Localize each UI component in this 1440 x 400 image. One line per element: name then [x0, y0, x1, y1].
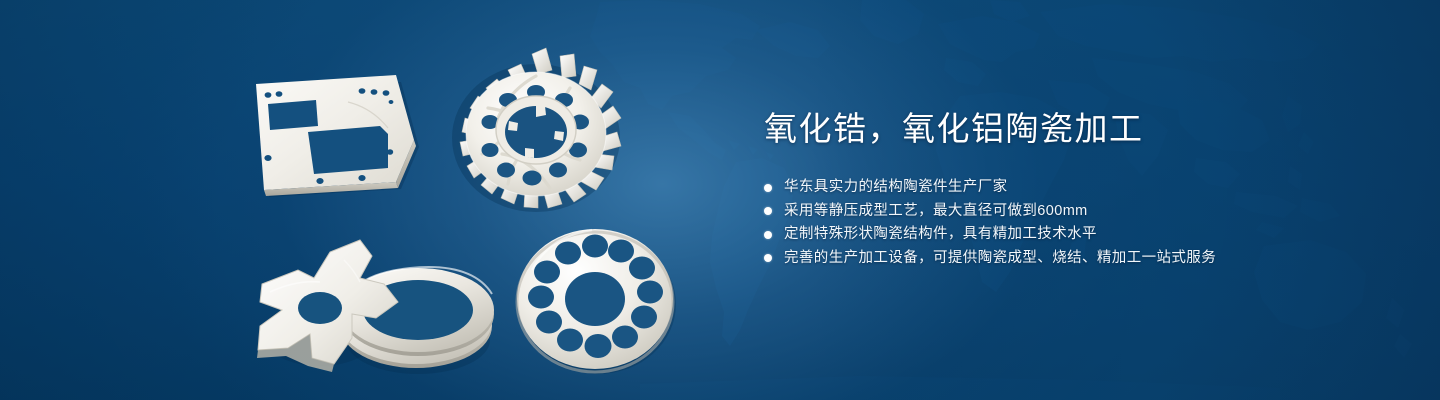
- bullet-dot-icon: [764, 231, 772, 239]
- feature-text: 华东具实力的结构陶瓷件生产厂家: [784, 176, 1008, 200]
- hero-banner: 氧化锆，氧化铝陶瓷加工 华东具实力的结构陶瓷件生产厂家 采用等静压成型工艺，最大…: [0, 0, 1440, 400]
- feature-text: 定制特殊形状陶瓷结构件，具有精加工技术水平: [784, 223, 1097, 247]
- bullet-dot-icon: [764, 254, 772, 262]
- copy-block: 氧化锆，氧化铝陶瓷加工 华东具实力的结构陶瓷件生产厂家 采用等静压成型工艺，最大…: [764, 108, 1384, 270]
- feature-text: 采用等静压成型工艺，最大直径可做到600mm: [784, 200, 1088, 224]
- bullet-dot-icon: [764, 184, 772, 192]
- page-title: 氧化锆，氧化铝陶瓷加工: [764, 108, 1384, 150]
- bullet-dot-icon: [764, 207, 772, 215]
- feature-text: 完善的生产加工设备，可提供陶瓷成型、烧结、精加工一站式服务: [784, 247, 1216, 271]
- ceramic-cross-and-ring-image: [248, 222, 518, 382]
- list-item: 采用等静压成型工艺，最大直径可做到600mm: [764, 200, 1384, 224]
- list-item: 华东具实力的结构陶瓷件生产厂家: [764, 176, 1384, 200]
- list-item: 定制特殊形状陶瓷结构件，具有精加工技术水平: [764, 223, 1384, 247]
- ceramic-plate-image: [248, 68, 428, 198]
- feature-list: 华东具实力的结构陶瓷件生产厂家 采用等静压成型工艺，最大直径可做到600mm 定…: [764, 176, 1384, 270]
- list-item: 完善的生产加工设备，可提供陶瓷成型、烧结、精加工一站式服务: [764, 247, 1384, 271]
- ceramic-perforated-disc-image: [508, 218, 684, 380]
- ceramic-impeller-image: [438, 46, 626, 218]
